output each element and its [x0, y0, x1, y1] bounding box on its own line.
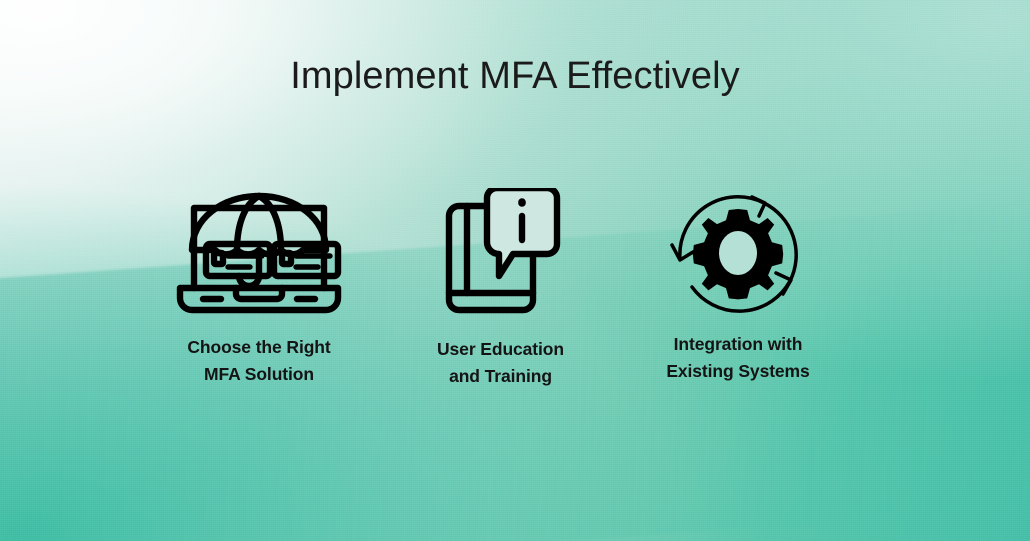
laptop-umbrella-cards-svg	[170, 188, 348, 318]
circular-arrow-bottom-head-icon	[776, 273, 791, 294]
book-info-bubble-icon	[441, 185, 561, 320]
feature-card-label: Choose the Right MFA Solution	[187, 334, 330, 387]
gear-hub-hole-icon	[719, 231, 757, 275]
credit-card-right-chip-icon	[282, 253, 291, 264]
feature-card-integration: Integration with Existing Systems	[613, 185, 863, 384]
gear-cycle-arrows-svg	[668, 187, 808, 319]
credit-card-left-chip-icon	[214, 253, 223, 264]
gear-cycle-arrows-icon	[668, 185, 808, 320]
feature-card-row: Choose the Right MFA Solution	[130, 185, 920, 389]
feature-card-user-education: User Education and Training	[388, 185, 613, 389]
feature-card-label: Integration with Existing Systems	[666, 331, 809, 384]
gear-icon	[693, 209, 783, 299]
slide-canvas: Implement MFA Effectively	[0, 0, 1030, 541]
feature-card-label: User Education and Training	[437, 336, 564, 389]
page-title: Implement MFA Effectively	[0, 55, 1030, 99]
laptop-umbrella-cards-icon	[170, 185, 348, 320]
book-info-bubble-svg	[441, 188, 561, 318]
feature-card-choose-mfa-solution: Choose the Right MFA Solution	[130, 185, 388, 387]
circular-arrow-left-head-icon	[672, 245, 693, 260]
